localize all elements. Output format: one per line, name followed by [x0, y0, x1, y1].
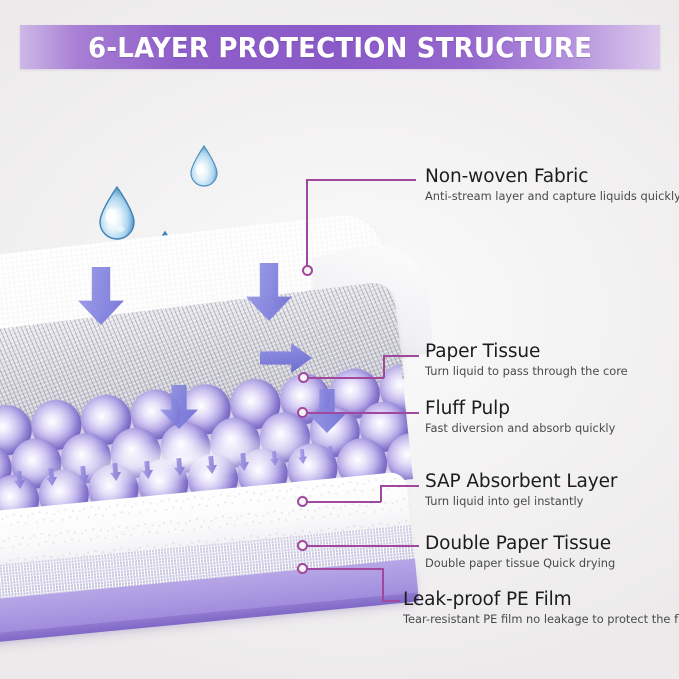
label-title: SAP Absorbent Layer [425, 471, 617, 492]
callout-line-non-woven-horz [306, 179, 416, 181]
label-subtitle: Tear-resistant PE film no leakage to pro… [403, 613, 679, 627]
label-subtitle: Anti-stream layer and capture liquids qu… [425, 190, 679, 204]
callout-line-double-paper-tissue [306, 545, 419, 547]
water-droplet-small [188, 145, 220, 189]
label-subtitle: Double paper tissue Quick drying [425, 557, 615, 571]
callout-line-paper-tissue-top [383, 355, 419, 357]
callout-line-fluff-pulp [306, 412, 419, 414]
infographic-canvas: 6-LAYER PROTECTION STRUCTURE [0, 0, 679, 679]
label-non-woven-fabric: Non-woven Fabric Anti-stream layer and c… [425, 166, 679, 204]
label-title: Fluff Pulp [425, 398, 615, 419]
label-double-paper-tissue: Double Paper Tissue Double paper tissue … [425, 533, 615, 571]
label-subtitle: Turn liquid into gel instantly [425, 495, 617, 509]
label-title: Double Paper Tissue [425, 533, 615, 554]
label-subtitle: Fast diversion and absorb quickly [425, 422, 615, 436]
callout-line-paper-tissue-vert [383, 355, 385, 378]
label-fluff-pulp: Fluff Pulp Fast diversion and absorb qui… [425, 398, 615, 436]
page-title: 6-LAYER PROTECTION STRUCTURE [42, 25, 637, 69]
label-title: Leak-proof PE Film [403, 589, 679, 610]
callout-line-sap-horz [306, 501, 381, 503]
callout-line-pe-vert [382, 568, 384, 601]
callout-dot-non-woven-fabric[interactable] [302, 265, 313, 276]
callout-line-sap-vert [380, 485, 382, 502]
label-leak-proof-pe-film: Leak-proof PE Film Tear-resistant PE fil… [403, 589, 679, 627]
callout-line-non-woven-vert [306, 180, 308, 266]
title-banner: 6-LAYER PROTECTION STRUCTURE [20, 25, 660, 69]
label-sap-absorbent-layer: SAP Absorbent Layer Turn liquid into gel… [425, 471, 617, 509]
label-subtitle: Turn liquid to pass through the core [425, 365, 628, 379]
water-droplet-medium [96, 185, 138, 243]
callout-line-sap-top [380, 485, 419, 487]
callout-line-paper-tissue-horz [307, 377, 384, 379]
layer-stack-illustration [0, 95, 408, 615]
label-title: Paper Tissue [425, 341, 628, 362]
callout-line-pe-horz [306, 568, 383, 570]
label-paper-tissue: Paper Tissue Turn liquid to pass through… [425, 341, 628, 379]
label-title: Non-woven Fabric [425, 166, 679, 187]
callout-line-pe-bottom [382, 600, 400, 602]
